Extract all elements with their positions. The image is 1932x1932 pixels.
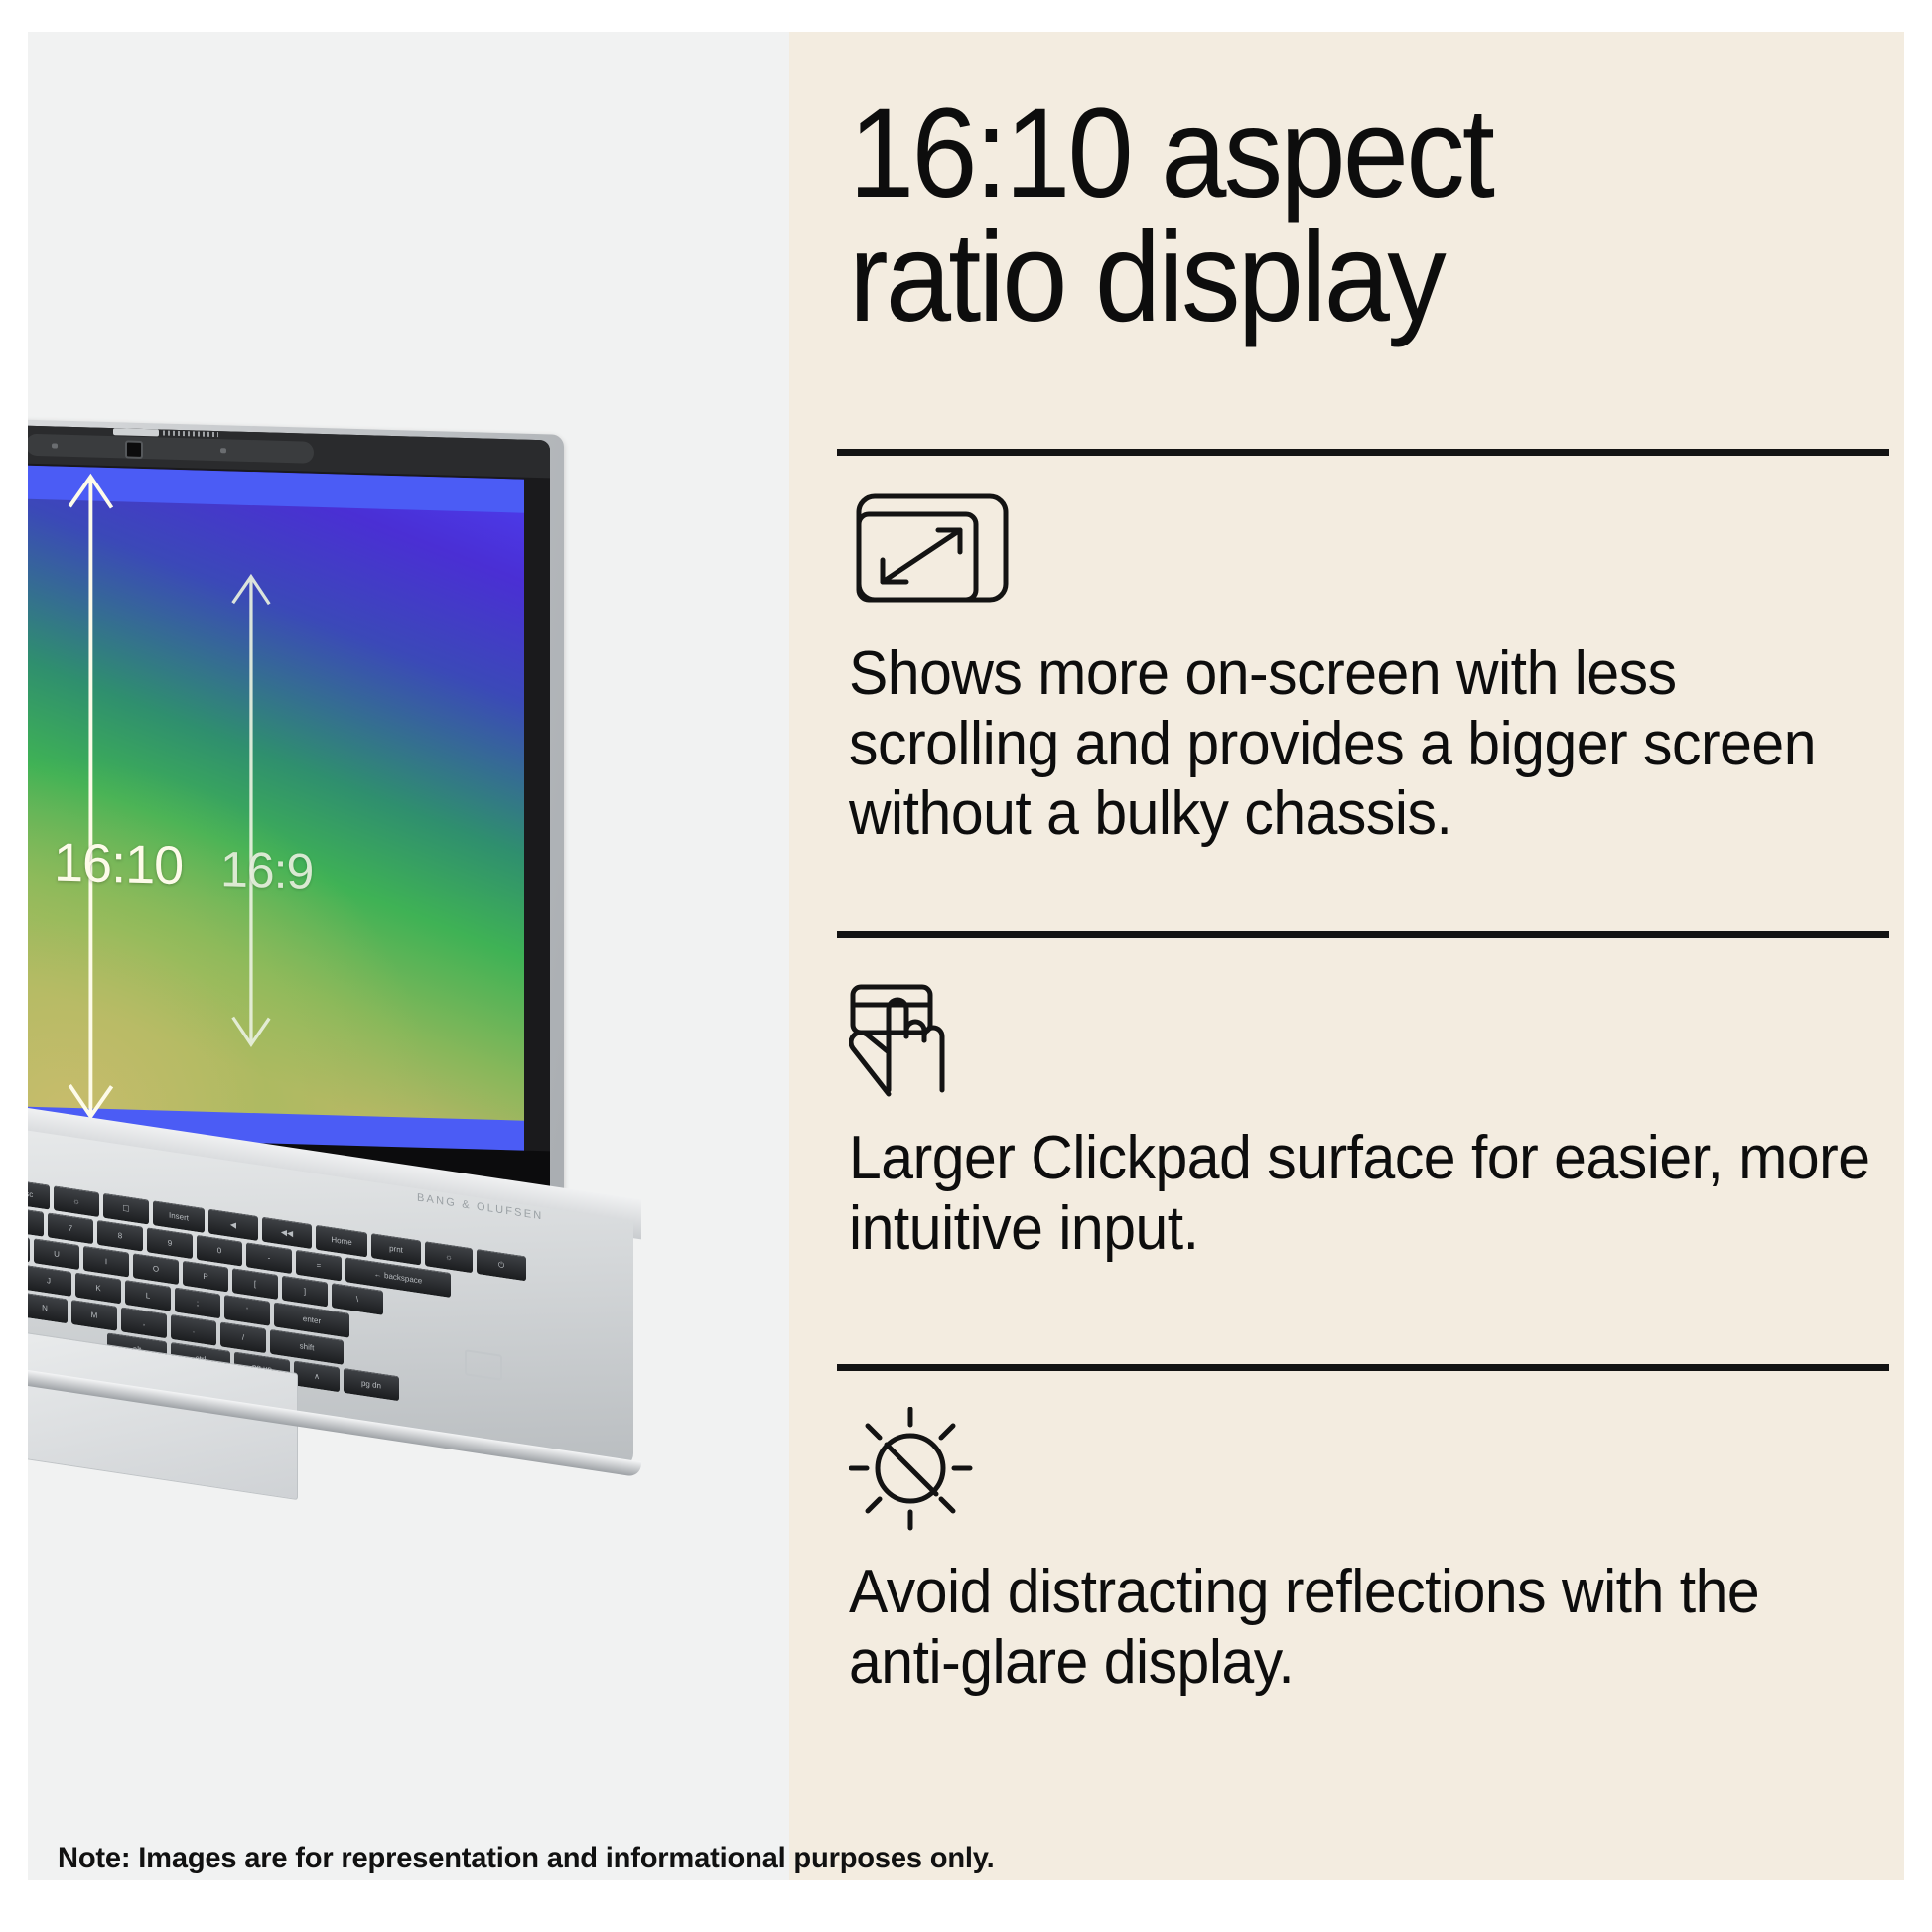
content-panel: 16:10 aspect ratio display Shows more on… bbox=[789, 32, 1904, 1880]
footer-note: Note: Images are for representation and … bbox=[58, 1842, 995, 1875]
divider-3 bbox=[837, 1364, 1889, 1371]
clickpad-tap-icon bbox=[849, 973, 1881, 1102]
measure-arrow-169 bbox=[233, 576, 270, 1044]
screen-label-1610: 16:10 bbox=[54, 831, 183, 897]
infographic-page: 16:10 16:9 hp BANG & OLUFSEN esc ☼ ☐ I bbox=[0, 0, 1932, 1932]
measure-arrow-1610 bbox=[69, 477, 111, 1118]
lid-inner: 16:10 16:9 hp bbox=[28, 425, 550, 1220]
feature-block-display-size: Shows more on-screen with less scrolling… bbox=[849, 488, 1881, 850]
divider-2 bbox=[837, 931, 1889, 938]
webcam-icon bbox=[125, 440, 143, 459]
headline-line-2: ratio display bbox=[849, 215, 1772, 340]
aspect-ratio-measure-overlay bbox=[28, 466, 524, 1139]
divider-1 bbox=[837, 449, 1889, 456]
laptop-lid: 16:10 16:9 hp bbox=[28, 419, 564, 1229]
feature-block-anti-glare: Avoid distracting reflections with the a… bbox=[849, 1407, 1881, 1698]
feature-text-anti-glare: Avoid distracting reflections with the a… bbox=[849, 1558, 1877, 1698]
feature-text-clickpad: Larger Clickpad surface for easier, more… bbox=[849, 1124, 1877, 1264]
feature-text-display-size: Shows more on-screen with less scrolling… bbox=[849, 639, 1877, 850]
anti-glare-sun-icon bbox=[849, 1407, 1881, 1536]
mic-grill bbox=[163, 431, 218, 438]
privacy-shutter-icon bbox=[113, 428, 159, 436]
fingerprint-reader-icon bbox=[465, 1349, 502, 1381]
laptop-product-photo: 16:10 16:9 hp BANG & OLUFSEN esc ☼ ☐ I bbox=[28, 32, 789, 1880]
mic-icon bbox=[220, 448, 226, 453]
webcam-module bbox=[28, 434, 314, 464]
screen-size-expand-icon bbox=[849, 488, 1881, 618]
page-title: 16:10 aspect ratio display bbox=[849, 91, 1772, 341]
screen-label-169: 16:9 bbox=[220, 840, 313, 900]
laptop-screen: 16:10 16:9 bbox=[28, 466, 524, 1155]
headline-line-1: 16:10 aspect bbox=[849, 91, 1772, 215]
ir-sensor-icon bbox=[52, 443, 58, 448]
product-image-panel: 16:10 16:9 hp BANG & OLUFSEN esc ☼ ☐ I bbox=[28, 32, 789, 1880]
feature-block-clickpad: Larger Clickpad surface for easier, more… bbox=[849, 973, 1881, 1264]
